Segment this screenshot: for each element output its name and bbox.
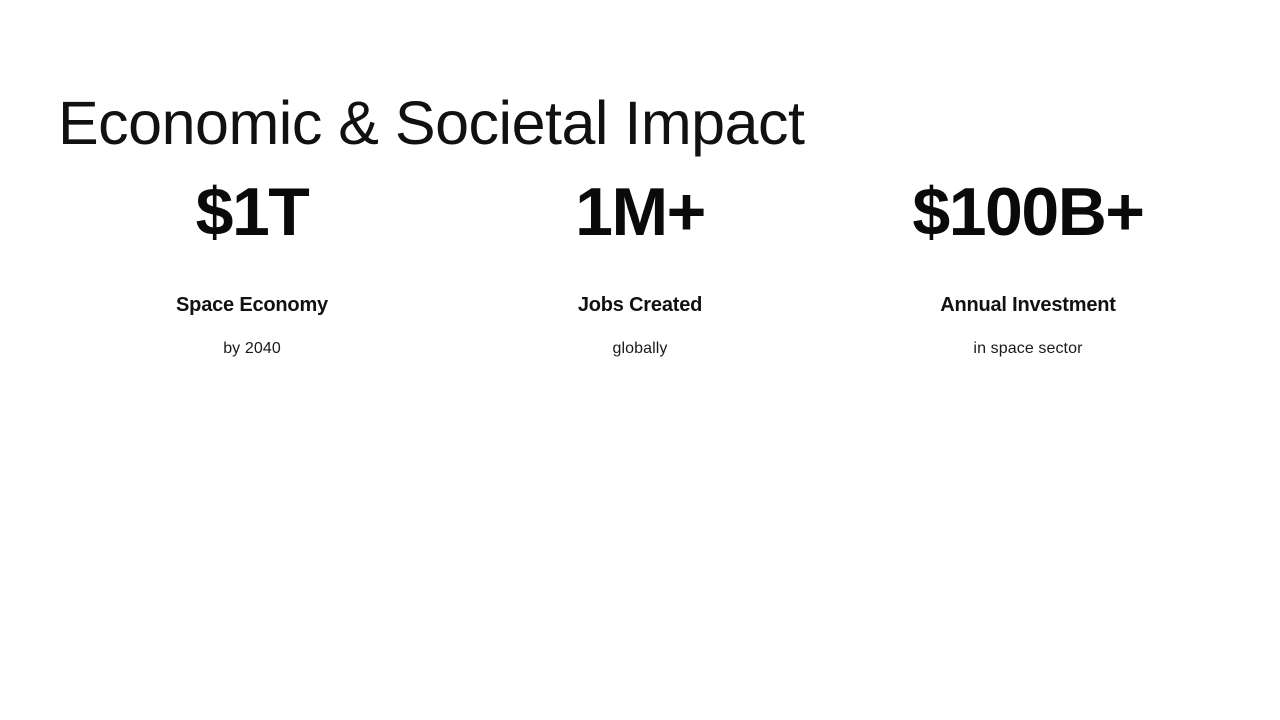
- stat-value: $100B+: [912, 178, 1143, 246]
- stat-value: 1M+: [575, 178, 705, 246]
- stat-sublabel: globally: [612, 339, 667, 358]
- stat-sublabel: by 2040: [223, 339, 281, 358]
- slide-canvas: Economic & Societal Impact $1T Space Eco…: [0, 0, 1280, 720]
- stats-grid: $1T Space Economy by 2040 1M+ Jobs Creat…: [58, 178, 1222, 358]
- stat-label: Space Economy: [176, 293, 328, 317]
- stat-label: Jobs Created: [578, 293, 702, 317]
- stat-card-jobs-created: 1M+ Jobs Created globally: [446, 178, 834, 358]
- page-title: Economic & Societal Impact: [58, 91, 804, 155]
- stat-card-space-economy: $1T Space Economy by 2040: [58, 178, 446, 358]
- stat-sublabel: in space sector: [973, 339, 1082, 358]
- stat-label: Annual Investment: [940, 293, 1116, 317]
- stat-card-annual-investment: $100B+ Annual Investment in space sector: [834, 178, 1222, 358]
- stat-value: $1T: [196, 178, 309, 246]
